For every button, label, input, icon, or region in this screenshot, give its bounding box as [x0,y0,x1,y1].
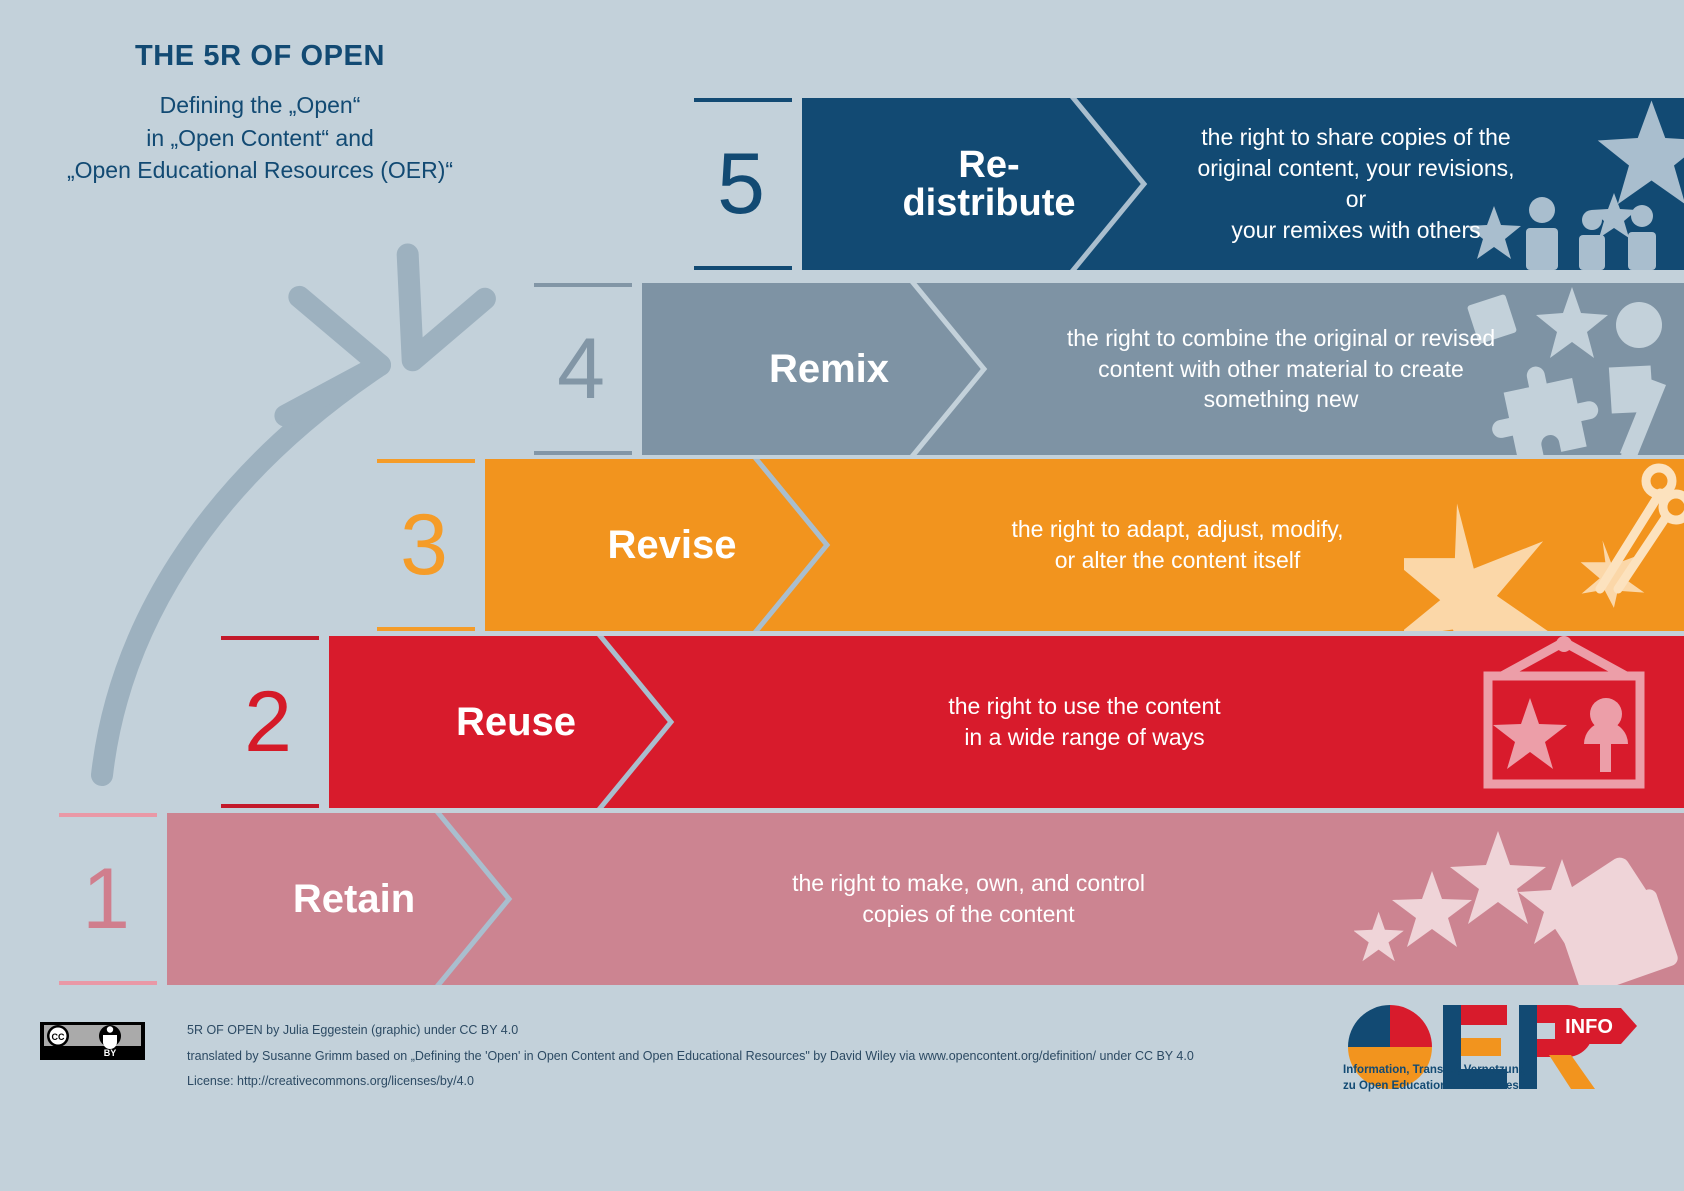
subtitle-line-2: in „Open Content“ and [0,122,520,155]
credit-line-2: translated by Susanne Grimm based on „De… [187,1044,1307,1070]
credits-block: 5R OF OPEN by Julia Eggestein (graphic) … [187,1018,1307,1095]
desc-line-1: the right to use the content [715,691,1454,722]
rule-top [377,459,475,463]
row-description-5: the right to share copies of the origina… [1188,122,1524,245]
row-description-1: the right to make, own, and control copi… [553,868,1384,930]
subtitle-line-3: „Open Educational Resources (OER)“ [0,154,520,187]
page-title: THE 5R OF OPEN [0,40,520,73]
row-bar-5: Re- distribute the right to share copies… [802,98,1684,270]
row-label-1: Retain [229,879,479,919]
desc-line-1: the right to share copies of the [1188,122,1524,153]
row-number-cell-5: 5 [680,98,802,270]
row-description-2: the right to use the content in a wide r… [715,691,1454,753]
row-bar-2: Reuse the right to use the content in a … [329,636,1684,808]
desc-line-1: the right to adapt, adjust, modify, [871,514,1484,545]
desc-line-3: your remixes with others [1188,215,1524,246]
rule-top [694,98,792,102]
oer-logo-info-badge: INFO [1555,1008,1637,1044]
row-label-5: Re- distribute [864,146,1114,222]
desc-line-2: or alter the content itself [871,545,1484,576]
picture-frame-art-icon [1444,636,1684,808]
row-bar-4: Remix the right to combine the original … [642,283,1684,455]
rule-bottom [377,627,475,631]
row-number-cell-1: 1 [45,813,167,985]
row-label-2: Reuse [391,702,641,742]
cc-by-license-badge-icon[interactable]: CC BY [40,1022,145,1060]
subtitle-line-1: Defining the „Open“ [0,89,520,122]
tagline-line-2: zu Open Educational Resources [1343,1079,1663,1095]
row-redistribute[interactable]: 5 Re- distrib [680,98,1684,270]
row-number: 1 [82,856,130,942]
row-retain[interactable]: 1 Retain the right to make, own, and con… [45,813,1684,985]
row-number: 4 [557,326,605,412]
row-number: 3 [400,502,448,588]
row-bar-1: Retain the right to make, own, and contr… [167,813,1684,985]
by-glyph-text: BY [104,1048,117,1058]
row-label-3: Revise [547,525,797,565]
desc-line-3: something new [1028,384,1534,415]
row-revise[interactable]: 3 Revise the right to adapt, a [363,459,1684,631]
row-number: 5 [717,141,765,227]
rule-top [534,283,632,287]
page-subtitle: Defining the „Open“ in „Open Content“ an… [0,89,520,187]
row-reuse[interactable]: 2 Reuse the right to [207,636,1684,808]
credit-line-1: 5R OF OPEN by Julia Eggestein (graphic) … [187,1018,1307,1044]
credit-line-3: License: http://creativecommons.org/lice… [187,1069,1307,1095]
row-label-line-2: distribute [864,184,1114,222]
row-number: 2 [244,679,292,765]
desc-line-1: the right to make, own, and control [553,868,1384,899]
row-number-cell-3: 3 [363,459,485,631]
row-description-3: the right to adapt, adjust, modify, or a… [871,514,1484,576]
rule-bottom [694,266,792,270]
info-badge-text: INFO [1565,1016,1613,1038]
row-description-4: the right to combine the original or rev… [1028,323,1534,415]
rule-bottom [534,451,632,455]
desc-line-2: copies of the content [553,899,1384,930]
oer-logo-tagline: Information, Transfer, Vernetzung zu Ope… [1343,1063,1663,1094]
row-bar-3: Revise the right to adapt, adjust, modif… [485,459,1684,631]
desc-line-2: content with other material to create [1028,354,1534,385]
desc-line-2: in a wide range of ways [715,722,1454,753]
desc-line-2: original content, your revisions, or [1188,153,1524,215]
rule-bottom [59,981,157,985]
row-label-4: Remix [704,349,954,389]
desc-line-1: the right to combine the original or rev… [1028,323,1534,354]
row-number-cell-4: 4 [520,283,642,455]
stars-and-folder-art-icon [1354,813,1684,985]
row-label-line-1: Re- [864,146,1114,184]
cc-glyph-text: CC [52,1032,65,1042]
tagline-line-1: Information, Transfer, Vernetzung [1343,1063,1663,1079]
rule-top [221,636,319,640]
rule-bottom [221,804,319,808]
row-number-cell-2: 2 [207,636,329,808]
rule-top [59,813,157,817]
headline-block: THE 5R OF OPEN Defining the „Open“ in „O… [0,40,520,187]
infographic-canvas: THE 5R OF OPEN Defining the „Open“ in „O… [0,0,1684,1191]
row-remix[interactable]: 4 Remix the right to combine the orig [520,283,1684,455]
